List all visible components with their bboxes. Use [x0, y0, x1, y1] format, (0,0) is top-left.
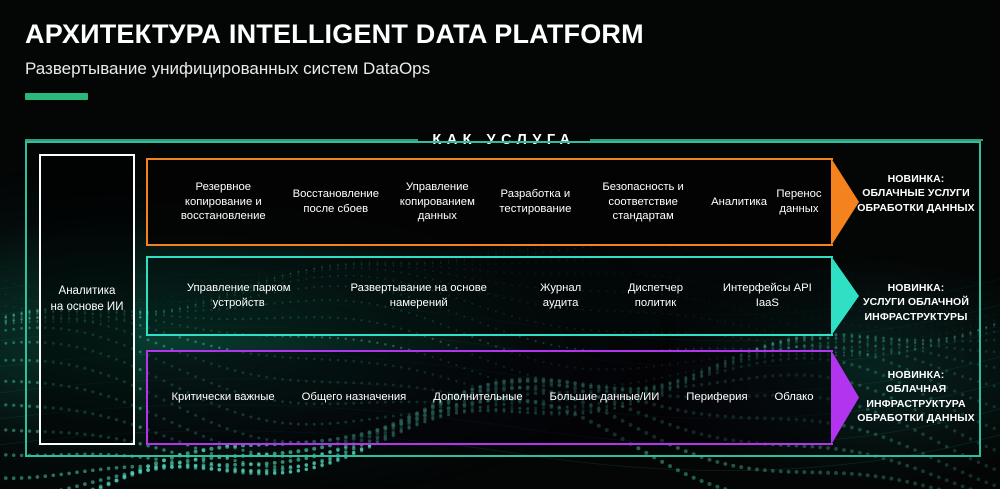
band-cell[interactable]: Разработка и тестирование: [492, 187, 580, 217]
band-cell[interactable]: Облако: [771, 390, 818, 405]
right-label-workloads: НОВИНКА:ОБЛАЧНАЯ ИНФРАСТРУКТУРА ОБРАБОТК…: [846, 368, 986, 426]
band-cell[interactable]: Безопасность и соответствие стандартам: [579, 180, 707, 225]
band-body-data-services: Резервное копирование и восстановлениеВо…: [146, 158, 833, 246]
band-cell[interactable]: Большие данные/ИИ: [546, 390, 664, 405]
band-workloads: Критически важныеОбщего назначенияДополн…: [146, 350, 859, 445]
band-cell[interactable]: Перенос данных: [771, 187, 827, 217]
band-data-services: Резервное копирование и восстановлениеВо…: [146, 158, 859, 246]
ai-analytics-line2: на основе ИИ: [51, 301, 124, 313]
band-cell[interactable]: Журнал аудита: [518, 281, 603, 311]
band-cell[interactable]: Критически важные: [167, 390, 278, 405]
right-label-text: ОБЛАЧНЫЕ УСЛУГИ ОБРАБОТКИ ДАННЫХ: [857, 187, 975, 213]
band-body-infrastructure-services: Управление парком устройствРазвертывание…: [146, 256, 833, 336]
band-cell[interactable]: Дополнительные: [429, 390, 526, 405]
band-cell[interactable]: Развертывание на основе намерений: [319, 281, 518, 311]
band-cell[interactable]: Управление копированием данных: [383, 180, 492, 225]
band-cell[interactable]: Периферия: [682, 390, 751, 405]
page-header: АРХИТЕКТУРА INTELLIGENT DATA PLATFORM Ра…: [25, 20, 644, 100]
band-cell[interactable]: Диспетчер политик: [603, 281, 707, 311]
right-label-new-badge: НОВИНКА:: [846, 172, 986, 186]
band-cell[interactable]: Общего назначения: [298, 390, 411, 405]
right-label-new-badge: НОВИНКА:: [846, 281, 986, 295]
band-cell[interactable]: Восстановление после сбоев: [289, 187, 383, 217]
band-cell[interactable]: Интерфейсы API IaaS: [708, 281, 827, 311]
accent-bar: [25, 93, 88, 100]
band-infrastructure-services: Управление парком устройствРазвертывание…: [146, 256, 859, 336]
right-label-text: УСЛУГИ ОБЛАЧНОЙ ИНФРАСТРУКТУРЫ: [863, 296, 969, 322]
ai-analytics-box: Аналитика на основе ИИ: [39, 154, 135, 445]
page-subtitle: Развертывание унифицированных систем Dat…: [25, 59, 644, 79]
right-label-data-services: НОВИНКА:ОБЛАЧНЫЕ УСЛУГИ ОБРАБОТКИ ДАННЫХ: [846, 172, 986, 215]
band-body-workloads: Критически важныеОбщего назначенияДополн…: [146, 350, 833, 445]
band-cell[interactable]: Резервное копирование и восстановление: [158, 180, 289, 225]
right-label-new-badge: НОВИНКА:: [846, 368, 986, 382]
ai-analytics-label: Аналитика на основе ИИ: [51, 284, 124, 315]
right-label-text: ОБЛАЧНАЯ ИНФРАСТРУКТУРА ОБРАБОТКИ ДАННЫХ: [857, 383, 975, 424]
right-label-infrastructure-services: НОВИНКА:УСЛУГИ ОБЛАЧНОЙ ИНФРАСТРУКТУРЫ: [846, 281, 986, 324]
band-cell[interactable]: Аналитика: [707, 195, 771, 210]
band-cell[interactable]: Управление парком устройств: [158, 281, 319, 311]
ai-analytics-line1: Аналитика: [59, 285, 116, 297]
page-title: АРХИТЕКТУРА INTELLIGENT DATA PLATFORM: [25, 20, 644, 50]
